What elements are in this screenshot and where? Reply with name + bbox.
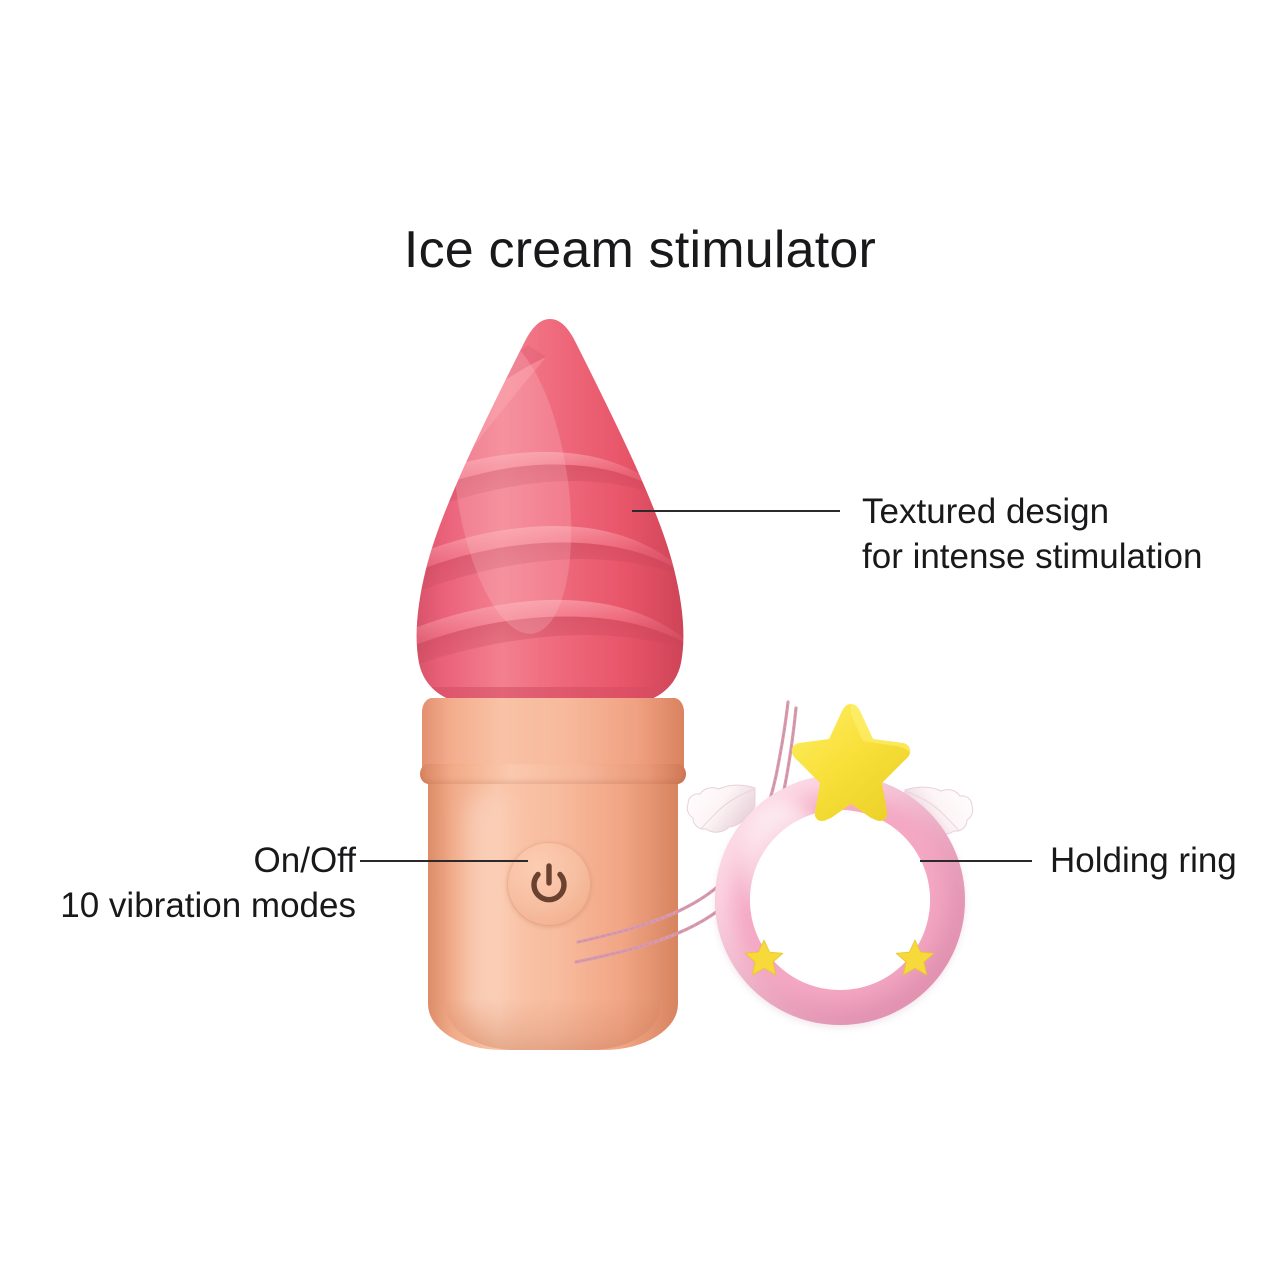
callout-ring-line1: Holding ring (1050, 841, 1237, 880)
cone-body (422, 698, 684, 1048)
swirl-head (400, 315, 700, 710)
leader-line-ring (920, 860, 1032, 862)
swirl-icon (400, 315, 700, 710)
cone-rim-ridge (420, 764, 686, 784)
callout-textured-line2: for intense stimulation (862, 537, 1202, 576)
callout-onoff-line1: On/Off (254, 841, 356, 880)
power-button[interactable] (507, 842, 591, 926)
holding-ring-assembly (690, 690, 1010, 1050)
product-diagram: Ice cream stimulator (0, 0, 1280, 1280)
star-small-left-icon (744, 938, 784, 976)
star-small-right-icon (895, 938, 935, 976)
leader-line-textured (632, 510, 840, 512)
callout-textured-line1: Textured design (862, 492, 1109, 531)
power-icon (526, 861, 572, 907)
page-title: Ice cream stimulator (0, 222, 1280, 279)
callout-holding-ring: Holding ring (1050, 839, 1237, 884)
leader-line-onoff (360, 860, 528, 862)
product-illustration-icecream (400, 315, 700, 1055)
callout-on-off: On/Off 10 vibration modes (0, 839, 356, 929)
star-large-icon (787, 698, 915, 822)
callout-textured-design: Textured design for intense stimulation (862, 490, 1202, 580)
callout-onoff-line2: 10 vibration modes (0, 884, 356, 929)
